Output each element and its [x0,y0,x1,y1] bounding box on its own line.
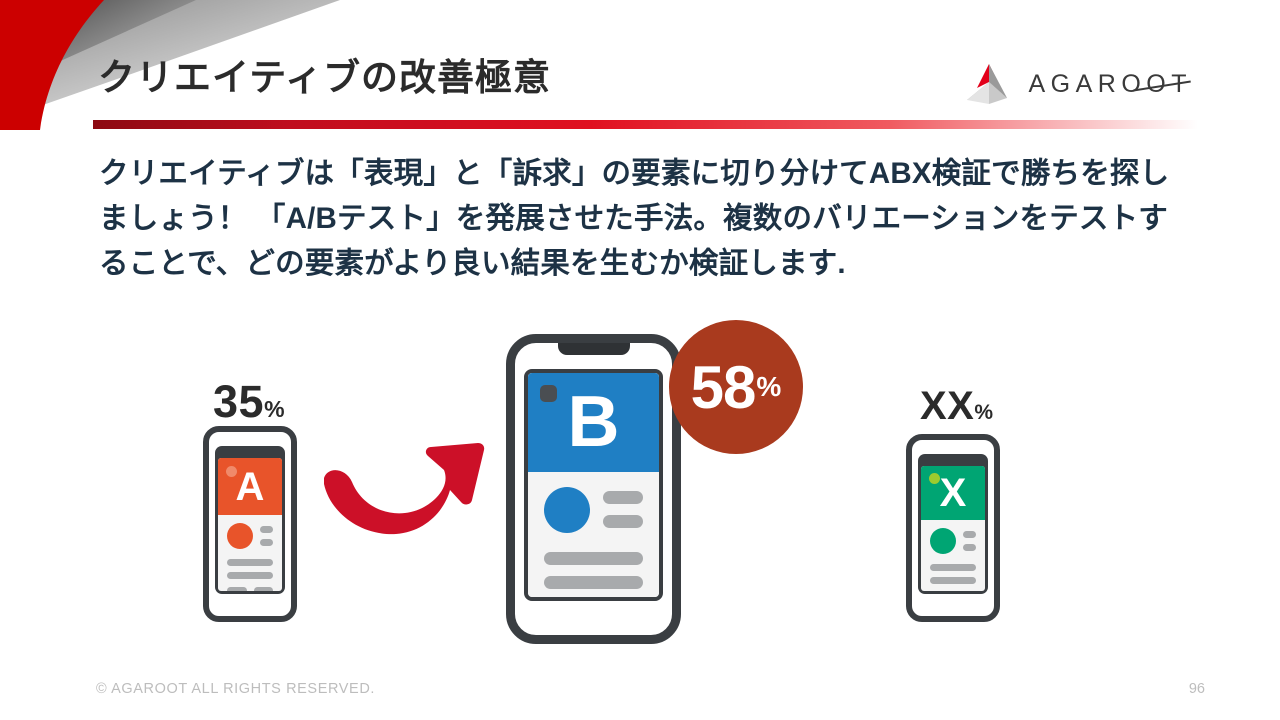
agaroot-wordmark: AGAROOT [1028,70,1192,99]
agaroot-logo: AGAROOT [963,62,1192,106]
placeholder-bar [544,576,643,589]
variant-letter-a: A [236,467,265,507]
phone-frame-a: A [203,426,297,622]
placeholder-bar [603,491,643,504]
placeholder-bar [930,564,976,571]
growth-arrow-icon [312,412,502,538]
placeholder-bar [544,552,643,565]
avatar-text-lines-a [260,526,273,546]
phone-mockup-b: B [506,334,681,644]
agaroot-logo-mark-icon [963,62,1015,106]
placeholder-bar [227,559,273,566]
variant-letter-b: B [568,386,620,458]
placeholder-bar [227,587,247,591]
placeholder-bar [227,572,273,579]
phone-inner-bezel-a: A [215,446,285,594]
avatar-circle-a [227,523,253,549]
percent-value-x: XX [920,384,974,428]
banner-dot-icon-x [929,473,940,484]
phone-body-lines-x [921,556,985,584]
winner-percent-badge: 58% [669,320,803,454]
placeholder-bar [260,539,273,546]
phone-notch-b [558,342,630,355]
placeholder-bar [603,515,643,528]
banner-dot-icon-a [226,466,237,477]
placeholder-bar [254,587,274,591]
variant-letter-x: X [940,473,967,513]
phone-hero-banner-b: B [528,373,659,472]
phone-screen-a: A [218,458,282,591]
avatar-circle-x [930,528,956,554]
slide-canvas: クリエイティブの改善極意 AGAROOT クリエイティブは「表現」と「訴求」の要… [0,0,1280,720]
percent-label-x: XX% [920,384,993,429]
phone-mockup-x: X [906,434,1000,622]
percent-symbol-x: % [974,401,993,424]
phone-frame-x: X [906,434,1000,622]
placeholder-bar [260,526,273,533]
percent-symbol-b: % [756,371,781,403]
footer-page-number: 96 [1189,681,1205,697]
phone-body-lines-a [218,551,282,579]
phone-split-lines-x [921,584,985,591]
phone-split-lines-a [218,579,282,591]
phone-hero-banner-a: A [218,458,282,515]
avatar-text-lines-x [963,531,976,551]
title-underline-rule [93,120,1198,129]
phone-hero-banner-x: X [921,466,985,520]
placeholder-bar [930,577,976,584]
phone-inner-bezel-b: B [524,369,663,601]
avatar-text-lines-b [603,491,643,528]
banner-dot-icon-b [540,385,557,402]
page-title: クリエイティブの改善極意 [98,47,551,101]
placeholder-bar [963,544,976,551]
percent-label-a: 35% [213,376,285,428]
phone-split-lines-b [528,589,659,597]
phone-avatar-row-a [218,515,282,551]
phone-frame-b: B [506,334,681,644]
lead-paragraph: クリエイティブは「表現」と「訴求」の要素に切り分けてABX検証で勝ちを探しましょ… [99,152,1174,286]
percent-value-a: 35 [213,376,264,427]
phone-screen-b: B [528,373,659,597]
percent-symbol-a: % [264,396,284,422]
phone-mockup-a: A [203,426,297,622]
footer-copyright: © AGAROOT ALL RIGHTS RESERVED. [96,681,375,697]
percent-value-b: 58 [691,353,756,422]
phone-inner-bezel-x: X [918,454,988,594]
avatar-circle-b [544,487,590,533]
phone-screen-x: X [921,466,985,591]
phone-body-lines-b [528,537,659,589]
placeholder-bar [963,531,976,538]
placeholder-bar-row [227,587,273,591]
phone-avatar-row-b [528,472,659,537]
phone-avatar-row-x [921,520,985,556]
